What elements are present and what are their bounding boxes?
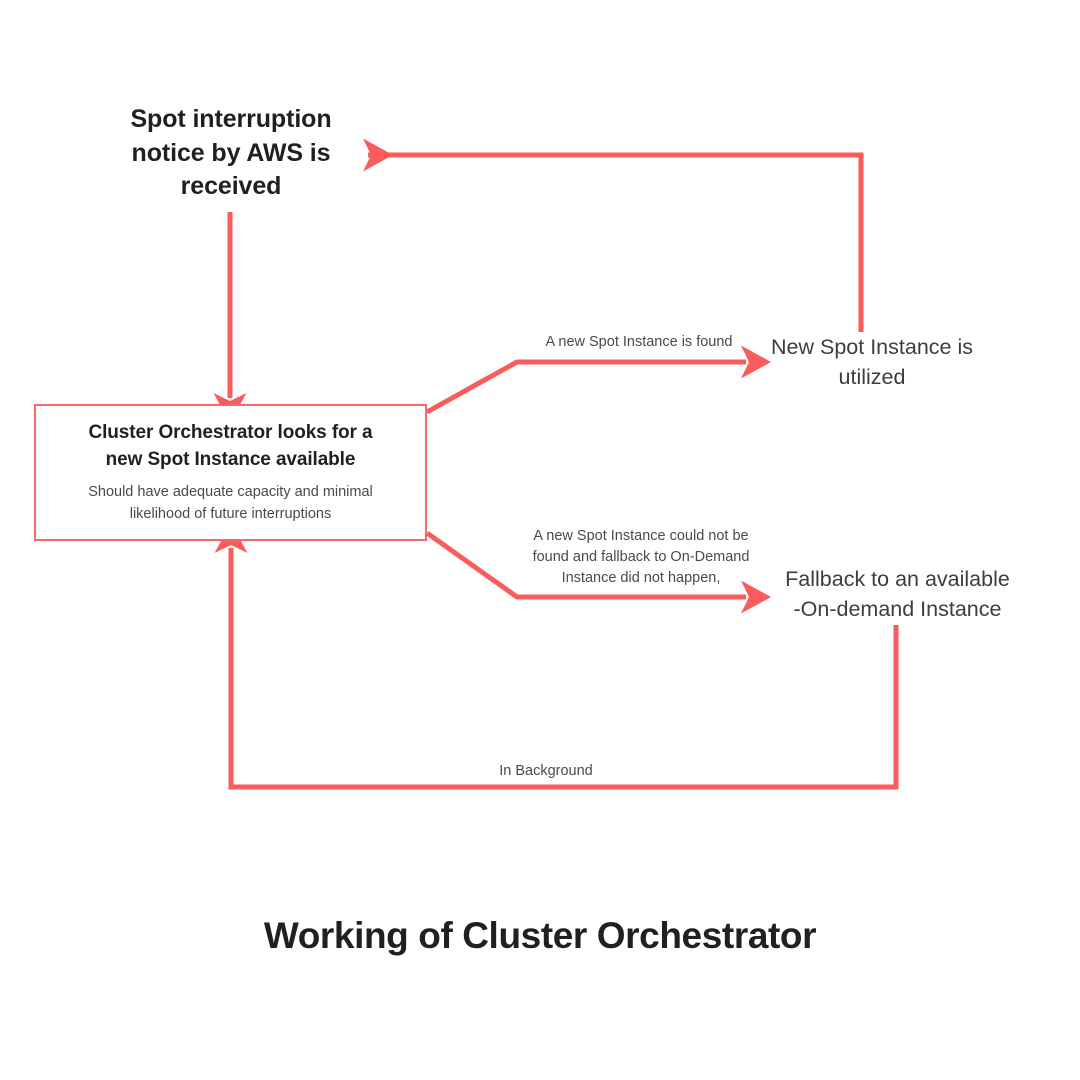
node-new-spot-line1: New Spot Instance is bbox=[771, 335, 973, 359]
edge-orchestrator-to-new-spot bbox=[427, 362, 746, 412]
edge-label-spot-instance-not-found: A new Spot Instance could not be found a… bbox=[500, 526, 782, 589]
edge-label-in-background: In Background bbox=[430, 761, 662, 782]
node-fallback-on-demand-instance: Fallback to an available -On-demand Inst… bbox=[760, 565, 1035, 624]
node-orchestrator-subtitle-line2: likelihood of future interruptions bbox=[130, 506, 332, 522]
node-fallback-text: Fallback to an available -On-demand Inst… bbox=[760, 565, 1035, 624]
edge-label-not-found-line1: A new Spot Instance could not be bbox=[533, 528, 748, 544]
node-fallback-line2: -On-demand Instance bbox=[794, 597, 1002, 621]
diagram-canvas: Spot interruption notice by AWS is recei… bbox=[0, 0, 1080, 1080]
node-spot-notice-line2: notice by AWS is bbox=[132, 139, 331, 167]
node-orchestrator-subtitle-line1: Should have adequate capacity and minima… bbox=[88, 484, 373, 500]
edge-label-found-text: A new Spot Instance is found bbox=[545, 334, 732, 350]
node-orchestrator-title-line2: new Spot Instance available bbox=[106, 449, 356, 470]
edge-label-not-found-line3: Instance did not happen, bbox=[562, 570, 721, 586]
edge-label-background-text: In Background bbox=[499, 763, 593, 779]
edge-label-not-found-line2: found and fallback to On-Demand bbox=[533, 549, 750, 565]
node-orchestrator-title: Cluster Orchestrator looks for a new Spo… bbox=[89, 420, 373, 473]
node-spot-notice-line3: received bbox=[181, 172, 282, 200]
node-fallback-line1: Fallback to an available bbox=[785, 567, 1010, 591]
node-spot-notice-line1: Spot interruption bbox=[130, 105, 331, 133]
node-spot-interruption-notice: Spot interruption notice by AWS is recei… bbox=[100, 103, 362, 204]
diagram-caption: Working of Cluster Orchestrator bbox=[0, 915, 1080, 957]
node-new-spot-instance-utilized: New Spot Instance is utilized bbox=[742, 333, 1002, 392]
node-spot-notice-text: Spot interruption notice by AWS is recei… bbox=[100, 103, 362, 204]
edge-new-spot-to-notice bbox=[368, 155, 861, 332]
node-cluster-orchestrator: Cluster Orchestrator looks for a new Spo… bbox=[34, 404, 427, 541]
node-new-spot-text: New Spot Instance is utilized bbox=[742, 333, 1002, 392]
node-orchestrator-subtitle: Should have adequate capacity and minima… bbox=[88, 482, 373, 525]
node-orchestrator-title-line1: Cluster Orchestrator looks for a bbox=[89, 422, 373, 443]
node-new-spot-line2: utilized bbox=[839, 365, 906, 389]
edge-label-spot-instance-found: A new Spot Instance is found bbox=[508, 332, 770, 353]
